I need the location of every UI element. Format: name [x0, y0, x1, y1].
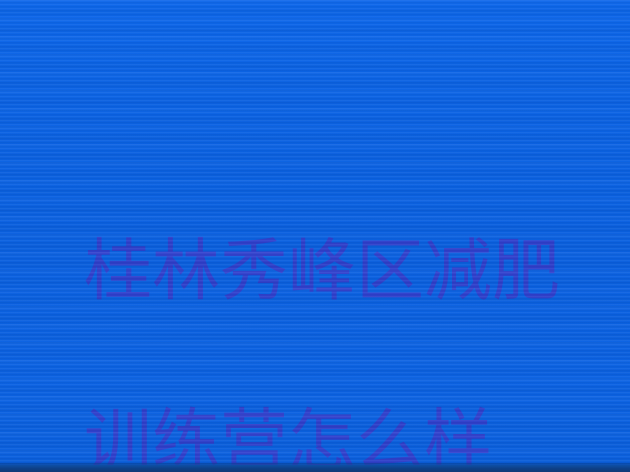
headline-line-1: 桂林秀峰区减肥 — [84, 229, 604, 314]
page-title: 桂林秀峰区减肥 训练营怎么样 — [84, 144, 604, 472]
bottom-strip — [0, 465, 630, 472]
headline-line-2: 训练营怎么样 — [84, 399, 604, 472]
banner-canvas: 桂林秀峰区减肥 训练营怎么样 — [0, 0, 630, 472]
